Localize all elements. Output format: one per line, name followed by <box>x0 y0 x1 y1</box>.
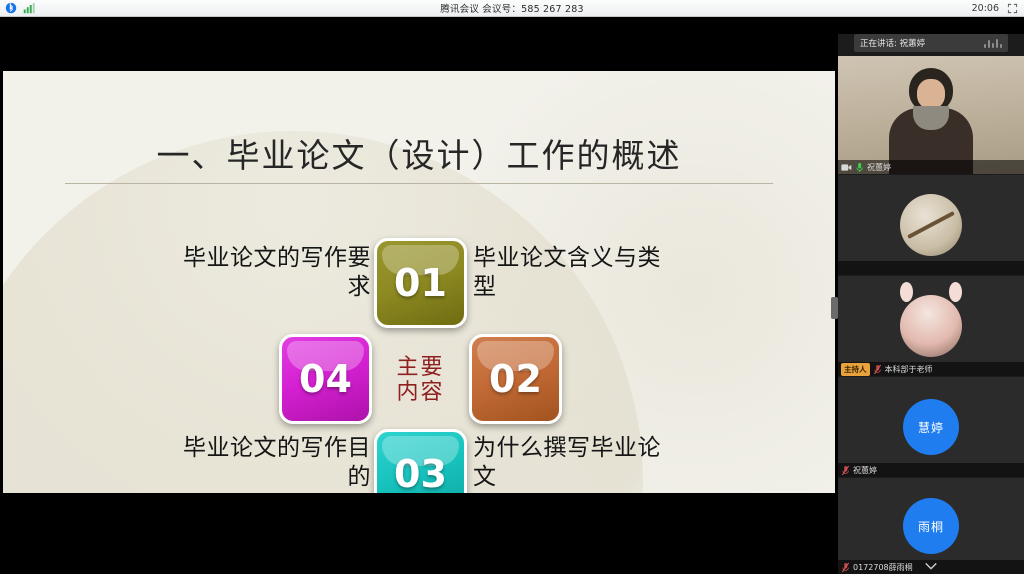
diagram-number-03: 03 <box>394 452 447 493</box>
diagram-number-box-02: 02 <box>469 334 562 424</box>
diagram-center-label: 主要 内容 <box>384 346 457 414</box>
participant-tile-2[interactable] <box>838 175 1024 275</box>
diagram-text-02: 为什么撰写毕业论文 <box>473 434 673 493</box>
mic-off-icon <box>841 562 850 573</box>
participant-label-2 <box>838 261 1024 275</box>
mic-off-icon <box>841 465 850 476</box>
diagram-text-03: 毕业论文的写作目的 <box>181 434 371 493</box>
participant-label-1: 祝蕙婷 <box>838 160 1024 174</box>
signal-bars-icon[interactable] <box>23 2 35 14</box>
avatar: 雨桐 <box>903 498 959 554</box>
fullscreen-expand-icon[interactable] <box>1007 3 1018 14</box>
diagram-text-01: 毕业论文含义与类型 <box>473 244 673 303</box>
diagram-number-box-01: 01 <box>374 238 467 328</box>
participant-tile-3[interactable]: 主持人 本科部于老师 <box>838 276 1024 376</box>
title-bar-right: 20:06 <box>854 3 1024 14</box>
photo-ear-left <box>900 282 913 302</box>
mic-off-icon <box>873 364 882 375</box>
active-speaker-label: 正在讲话: 祝蕙婷 <box>860 37 925 49</box>
participant-rail: 正在讲话: 祝蕙婷 <box>838 34 1024 557</box>
shared-screen-stage[interactable]: 一、毕业论文（设计）工作的概述 01 02 03 04 主要 内容 <box>0 44 838 520</box>
participant-label-3: 主持人 本科部于老师 <box>838 362 1024 376</box>
center-label-line2: 内容 <box>396 380 444 405</box>
slide-title: 一、毕业论文（设计）工作的概述 <box>3 129 835 177</box>
participant-tile-5[interactable]: 慧婷 祝蕙婷 <box>838 377 1024 477</box>
avatar-initials-5: 慧婷 <box>918 419 944 436</box>
participant-name-3: 本科部于老师 <box>885 364 933 375</box>
participant-tile-6[interactable]: 雨桐 0172708薛雨桐 <box>838 478 1024 574</box>
chevron-down-icon[interactable] <box>924 561 938 571</box>
clock: 20:06 <box>972 3 999 14</box>
participant-label-6: 0172708薛雨桐 <box>838 560 1024 574</box>
four-item-diagram: 01 02 03 04 主要 内容 毕业论文的写作要求 毕业论文含义与类型 毕业… <box>3 196 835 493</box>
presentation-slide: 一、毕业论文（设计）工作的概述 01 02 03 04 主要 内容 <box>3 71 835 493</box>
active-speaker-banner: 正在讲话: 祝蕙婷 <box>854 34 1008 52</box>
video-feed <box>838 56 1024 174</box>
profile-photo <box>900 295 962 357</box>
avatar-initials-6: 雨桐 <box>918 518 944 535</box>
diagram-number-01: 01 <box>394 261 447 305</box>
title-divider <box>65 183 773 184</box>
participant-label-5: 祝蕙婷 <box>838 463 1024 477</box>
bluetooth-icon[interactable] <box>5 2 17 14</box>
center-label-line1: 主要 <box>396 355 444 380</box>
diagram-number-02: 02 <box>489 357 542 401</box>
diagram-number-box-04: 04 <box>279 334 372 424</box>
audio-wave-icon <box>984 39 1003 48</box>
meeting-window-body: 一、毕业论文（设计）工作的概述 01 02 03 04 主要 内容 <box>0 17 1024 540</box>
window-title: 腾讯会议 会议号：585 267 283 <box>170 1 854 15</box>
mic-on-icon <box>855 162 864 173</box>
participant-name-6: 0172708薛雨桐 <box>853 562 913 573</box>
avatar: 慧婷 <box>903 399 959 455</box>
video-face-shape <box>917 79 945 109</box>
diagram-number-box-03: 03 <box>374 429 467 493</box>
camera-on-icon <box>841 163 852 172</box>
diagram-text-04: 毕业论文的写作要求 <box>181 244 371 303</box>
diagram-number-04: 04 <box>299 357 352 401</box>
participant-name-1: 祝蕙婷 <box>867 162 891 173</box>
photo-ear-right <box>949 282 962 302</box>
window-title-bar: 腾讯会议 会议号：585 267 283 20:06 <box>0 0 1024 17</box>
participant-name-5: 祝蕙婷 <box>853 465 877 476</box>
host-badge: 主持人 <box>841 363 870 376</box>
title-bar-left-icons <box>0 2 170 14</box>
participant-tile-1[interactable]: 祝蕙婷 <box>838 56 1024 174</box>
